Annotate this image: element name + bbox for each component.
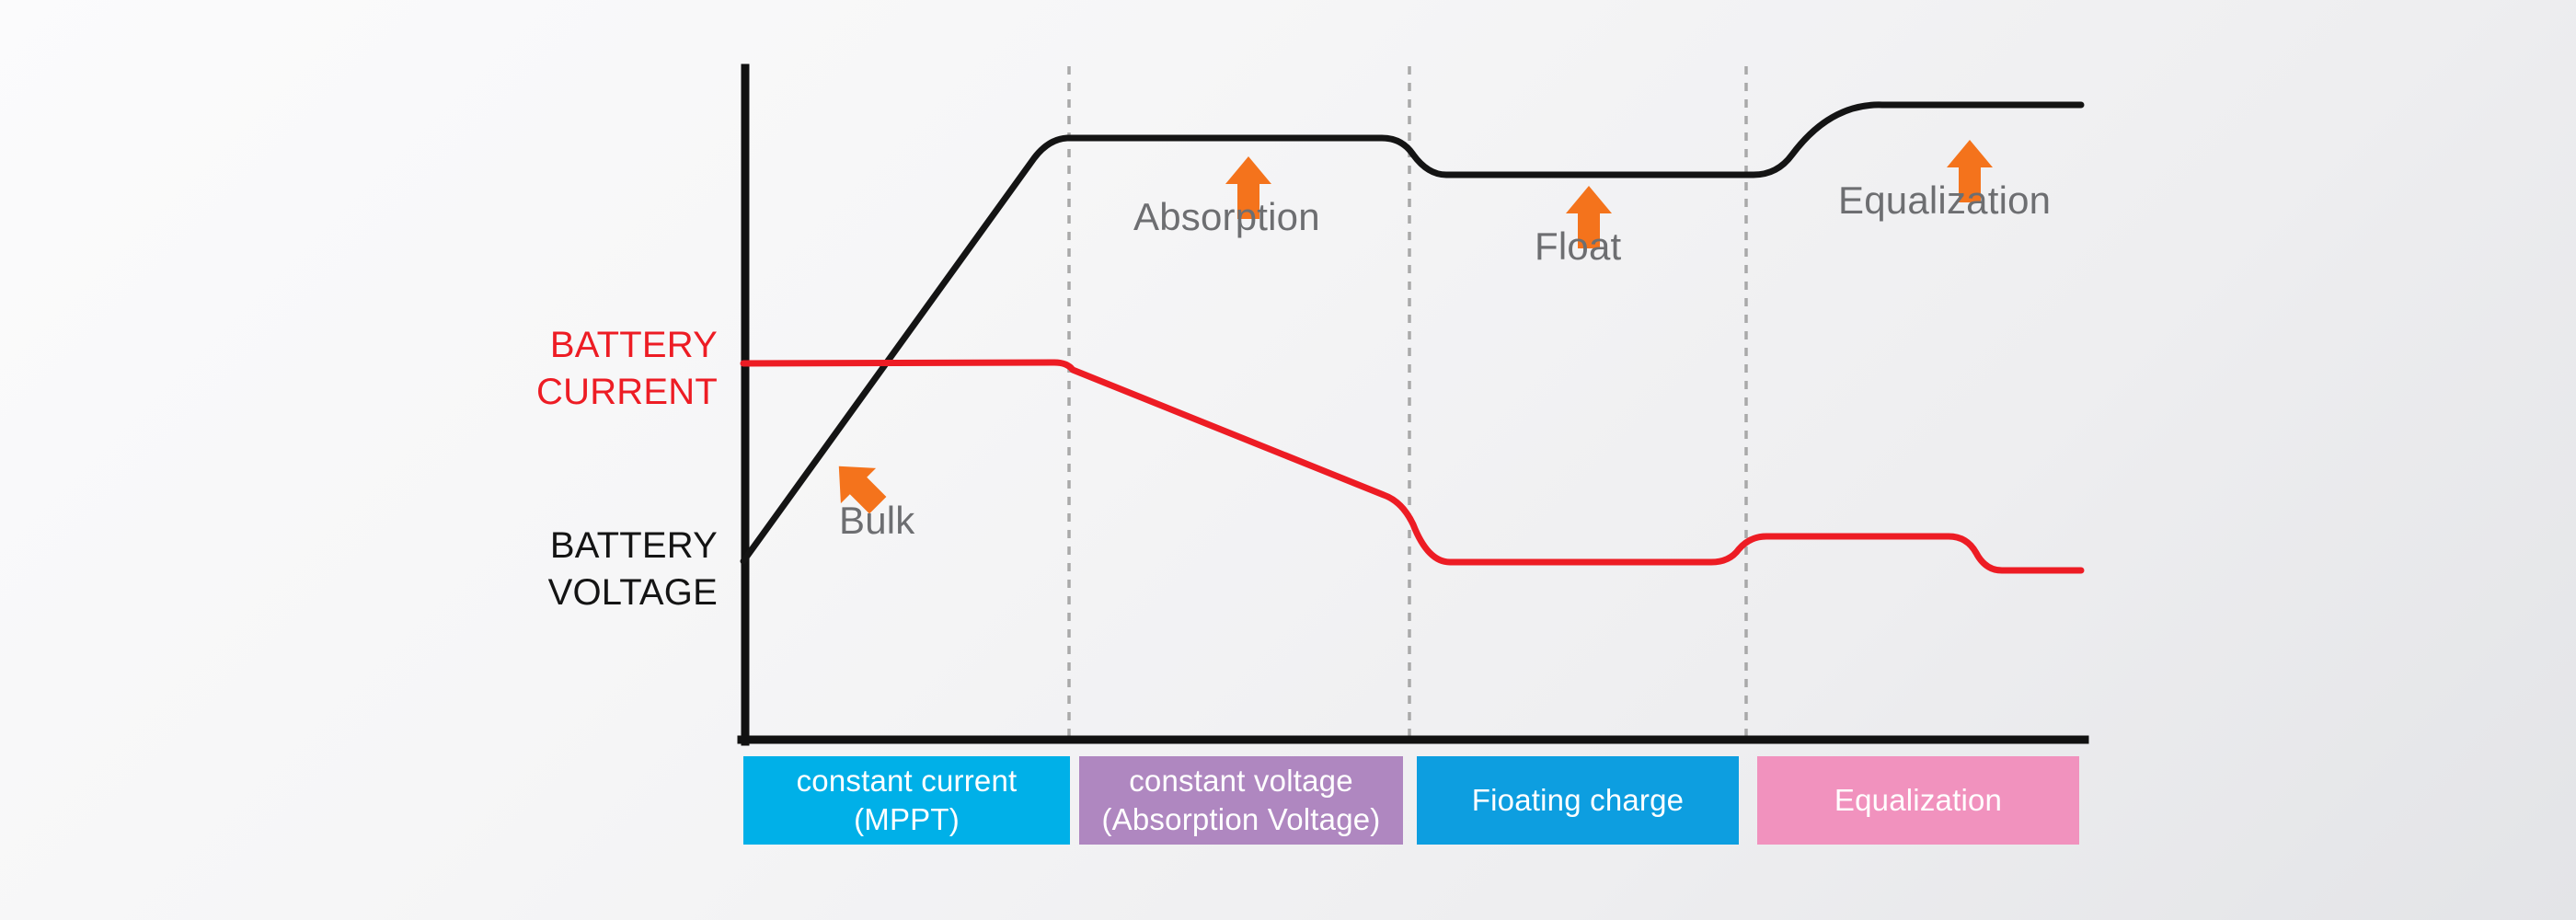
battery-voltage-axis-label: BATTERY VOLTAGE (350, 523, 718, 616)
chart-canvas: BATTERY CURRENT BATTERY VOLTAGE Bulk Abs… (0, 0, 2576, 920)
stage-note-absorption: Absorption (1133, 195, 1320, 239)
battery-current-axis-label: BATTERY CURRENT (350, 322, 718, 416)
stage-note-bulk: Bulk (839, 499, 915, 543)
stage-note-float: Float (1535, 224, 1621, 269)
legend-bar-constant-current[interactable]: constant current (MPPT) (743, 756, 1070, 845)
stage-note-equalization: Equalization (1838, 178, 2051, 223)
legend-bar-equalization[interactable]: Equalization (1757, 756, 2079, 845)
battery-current-curve (743, 362, 2081, 570)
stage-divider-lines (1069, 66, 1746, 743)
legend-bar-floating-charge[interactable]: Fioating charge (1417, 756, 1739, 845)
legend-bar-constant-voltage[interactable]: constant voltage (Absorption Voltage) (1079, 756, 1403, 845)
battery-voltage-curve (743, 105, 2081, 561)
